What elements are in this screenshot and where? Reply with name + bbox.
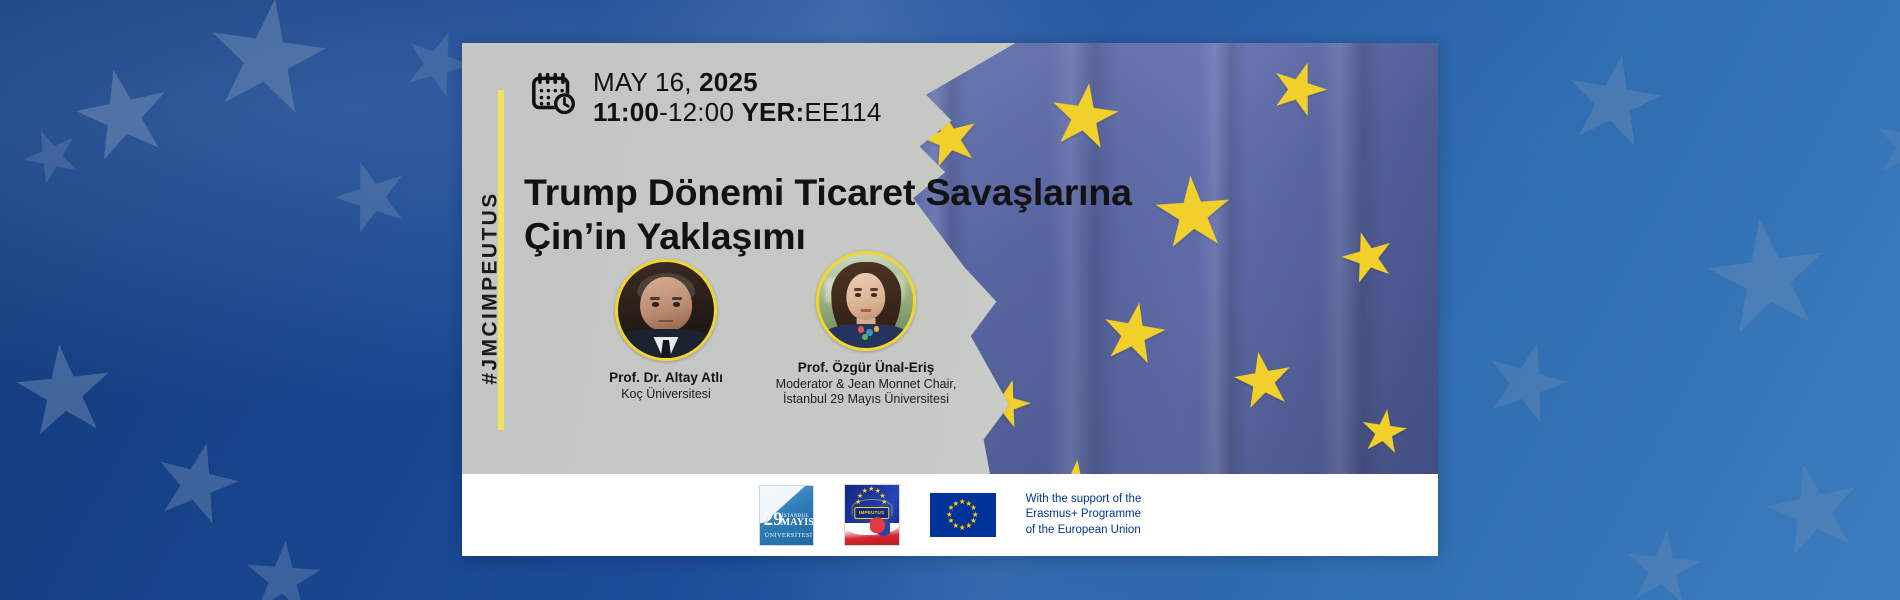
date-line-2: 11:00-12:00 YER:EE114: [593, 97, 882, 127]
jean-monnet-impeutus-logo: ★★★★★★★★★★★★ IMPEUTUS: [844, 484, 900, 546]
star-icon: ★: [959, 524, 966, 532]
star-icon: ★: [1550, 32, 1677, 169]
star-icon: ★: [1040, 68, 1128, 164]
date-text: MAY 16, 2025 11:00-12:00 YER:EE114: [593, 67, 882, 128]
date-year: 2025: [699, 67, 758, 97]
time-start: 11:00: [593, 97, 659, 127]
date-line-1: MAY 16, 2025: [593, 67, 882, 97]
star-icon: ★: [946, 511, 953, 519]
card-artwork: ★★★★★★★★★★★ #JMCIMPEUTUS: [462, 43, 1438, 474]
date-block: MAY 16, 2025 11:00-12:00 YER:EE114: [530, 67, 882, 128]
speaker-name: Prof. Özgür Ünal-Eriş: [756, 360, 976, 377]
star-icon: ★: [4, 325, 124, 456]
istanbul-29-mayis-universitesi-logo: 29 İSTANBUL MAYIS ÜNİVERSİTESİ: [759, 485, 814, 546]
logo-29-sub: ÜNİVERSİTESİ: [765, 533, 813, 539]
erasmus-line-1: With the support of the: [1026, 492, 1142, 507]
erasmus-support-text: With the support of the Erasmus+ Program…: [1026, 492, 1142, 538]
avatar: [816, 251, 916, 351]
star-icon: ★: [1690, 191, 1844, 358]
star-icon: ★: [1045, 450, 1105, 474]
star-icon: ★: [862, 488, 868, 495]
logo-29-word: MAYIS: [781, 517, 814, 528]
avatar: [615, 259, 717, 361]
star-icon: ★: [1354, 400, 1414, 465]
event-card: ★★★★★★★★★★★ #JMCIMPEUTUS: [462, 43, 1438, 556]
european-union-flag-icon: ★★★★★★★★★★★★: [930, 493, 996, 537]
time-end: -12:00: [659, 97, 741, 127]
erasmus-line-3: of the European Union: [1026, 523, 1142, 538]
venue-value: EE114: [804, 97, 881, 127]
speaker-affiliation: Koç Üniversitesi: [566, 387, 766, 402]
speaker-card-2: Prof. Özgür Ünal-Eriş Moderator & Jean M…: [756, 251, 976, 407]
portrait-altay-atli: [618, 262, 714, 358]
date-month-day: MAY 16,: [593, 67, 699, 97]
poster-page: ★★★★★★★★★★★★★★ ★★★★★★★★★★★ #JMCIMPEUTUS: [0, 0, 1900, 600]
star-icon: ★: [868, 486, 874, 493]
handshake-icon: [870, 514, 891, 539]
venue-label: YER:: [741, 97, 804, 127]
footer-logos: 29 İSTANBUL MAYIS ÜNİVERSİTESİ ★★★★★★★★★…: [462, 474, 1438, 556]
title-line-1: Trump Dönemi Ticaret Savaşlarına: [524, 170, 1224, 214]
event-title: Trump Dönemi Ticaret Savaşlarına Çin’in …: [524, 170, 1224, 259]
star-icon: ★: [237, 527, 330, 600]
speaker-card-1: Prof. Dr. Altay Atlı Koç Üniversitesi: [566, 259, 766, 402]
calendar-clock-icon: [530, 70, 579, 119]
erasmus-line-2: Erasmus+ Programme: [1026, 507, 1142, 522]
speakers-section: Prof. Dr. Altay Atlı Koç Üniversitesi: [548, 259, 1008, 449]
star-icon: ★: [190, 0, 344, 139]
speaker-name: Prof. Dr. Altay Atlı: [566, 370, 766, 387]
star-icon: ★: [952, 500, 959, 508]
speaker-affiliation-2: İstanbul 29 Mayıs Üniversitesi: [756, 392, 976, 407]
hashtag-text: #JMCIMPEUTUS: [479, 191, 503, 384]
speaker-affiliation-1: Moderator & Jean Monnet Chair,: [756, 377, 976, 392]
portrait-ozgur-unal-eris: [819, 254, 913, 348]
hashtag-vertical: #JMCIMPEUTUS: [469, 138, 513, 438]
star-icon: ★: [965, 522, 972, 530]
star-icon: ★: [1092, 287, 1177, 378]
star-icon: ★: [1224, 338, 1302, 422]
star-icon: ★: [1615, 516, 1711, 600]
